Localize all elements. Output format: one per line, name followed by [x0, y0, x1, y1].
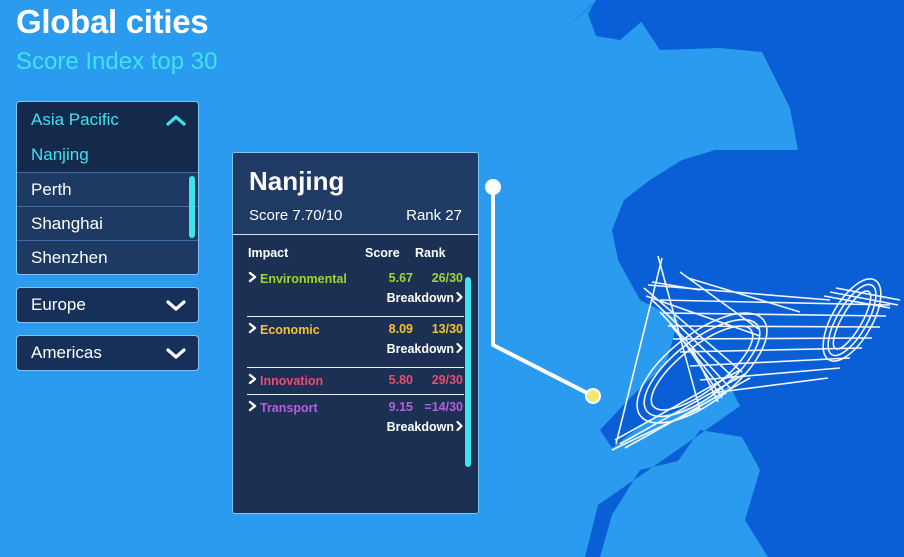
header: Global cities Score Index top 30	[16, 2, 217, 78]
card-rank: Rank 27	[406, 207, 462, 224]
page-subtitle: Score Index top 30	[16, 46, 217, 78]
impact-score: 9.15	[364, 395, 414, 417]
breakdown-label: Breakdown	[387, 420, 454, 434]
card-scrollbar[interactable]	[465, 277, 471, 467]
city-name: Nanjing	[31, 145, 89, 164]
chevron-right-icon	[248, 400, 257, 415]
chevron-right-icon	[248, 373, 257, 388]
column-header-score: Score	[364, 245, 414, 266]
impact-rank: =14/30	[414, 395, 464, 417]
city-name: Shenzhen	[31, 248, 108, 267]
impact-score: 5.67	[364, 266, 414, 288]
chevron-right-icon	[248, 322, 257, 337]
accordion-group-europe: Europe	[16, 287, 199, 323]
table-row[interactable]: Innovation 5.80 29/30	[247, 368, 464, 390]
region-accordion: Asia Pacific Nanjing Perth	[16, 101, 199, 383]
city-list-item-shenzhen[interactable]: Shenzhen	[17, 240, 198, 274]
breakdown-link[interactable]: Breakdown	[387, 291, 463, 306]
impact-rank: 29/30	[414, 368, 464, 390]
impact-table: Impact Score Rank Environmenta	[247, 245, 464, 441]
chevron-right-icon	[456, 291, 463, 306]
app-root: Global cities Score Index top 30 Asia Pa…	[0, 0, 904, 557]
city-name: Perth	[31, 180, 72, 199]
impact-rank: 26/30	[414, 266, 464, 288]
accordion-header-europe[interactable]: Europe	[16, 287, 199, 323]
city-list-item-shanghai[interactable]: Shanghai	[17, 206, 198, 240]
card-score-row: Score 7.70/10 Rank 27	[249, 207, 462, 224]
impact-label: Economic	[260, 323, 320, 337]
impact-label: Environmental	[260, 272, 347, 286]
city-list: Nanjing Perth Shanghai Shenzhen	[17, 138, 198, 274]
table-row[interactable]: Transport 9.15 =14/30	[247, 395, 464, 417]
card-header: Nanjing Score 7.70/10 Rank 27	[233, 153, 478, 235]
impact-table-header-row: Impact Score Rank	[247, 245, 464, 266]
breakdown-row: Breakdown	[247, 417, 464, 441]
chevron-right-icon	[248, 271, 257, 286]
chevron-up-icon	[166, 114, 186, 127]
page-title: Global cities	[16, 2, 217, 42]
breakdown-link[interactable]: Breakdown	[387, 342, 463, 357]
breakdown-row: Breakdown	[247, 339, 464, 363]
accordion-header-asia-pacific[interactable]: Asia Pacific	[17, 102, 198, 138]
column-header-rank: Rank	[414, 245, 464, 266]
accordion-label-asia-pacific: Asia Pacific	[31, 110, 119, 130]
table-row[interactable]: Economic 8.09 13/30	[247, 317, 464, 339]
breakdown-label: Breakdown	[387, 342, 454, 356]
card-body: Impact Score Rank Environmenta	[233, 245, 478, 441]
impact-score: 8.09	[364, 317, 414, 339]
breakdown-row: Breakdown	[247, 288, 464, 312]
breakdown-label: Breakdown	[387, 291, 454, 305]
connector-end-marker	[586, 389, 600, 403]
chevron-right-icon	[456, 420, 463, 435]
city-detail-card: Nanjing Score 7.70/10 Rank 27 Impact Sco…	[232, 152, 479, 514]
card-city-name: Nanjing	[249, 165, 462, 197]
impact-label: Innovation	[260, 374, 323, 388]
impact-label: Transport	[260, 401, 318, 415]
city-list-item-perth[interactable]: Perth	[17, 172, 198, 206]
card-score: Score 7.70/10	[249, 207, 342, 224]
column-header-impact: Impact	[247, 245, 364, 266]
accordion-label-americas: Americas	[31, 343, 102, 363]
accordion-header-americas[interactable]: Americas	[16, 335, 199, 371]
impact-rank: 13/30	[414, 317, 464, 339]
breakdown-link[interactable]: Breakdown	[387, 420, 463, 435]
chevron-right-icon	[456, 342, 463, 357]
impact-score: 5.80	[364, 368, 414, 390]
city-name: Shanghai	[31, 214, 103, 233]
chevron-down-icon	[166, 299, 186, 312]
city-list-scrollbar[interactable]	[189, 176, 195, 238]
table-row[interactable]: Environmental 5.67 26/30	[247, 266, 464, 288]
city-list-container: Nanjing Perth Shanghai Shenzhen	[17, 138, 198, 274]
accordion-group-americas: Americas	[16, 335, 199, 371]
accordion-label-europe: Europe	[31, 295, 86, 315]
connector-start-marker	[485, 179, 501, 195]
city-list-item-nanjing[interactable]: Nanjing	[17, 138, 198, 172]
chevron-down-icon	[166, 347, 186, 360]
accordion-group-asia-pacific: Asia Pacific Nanjing Perth	[16, 101, 199, 275]
